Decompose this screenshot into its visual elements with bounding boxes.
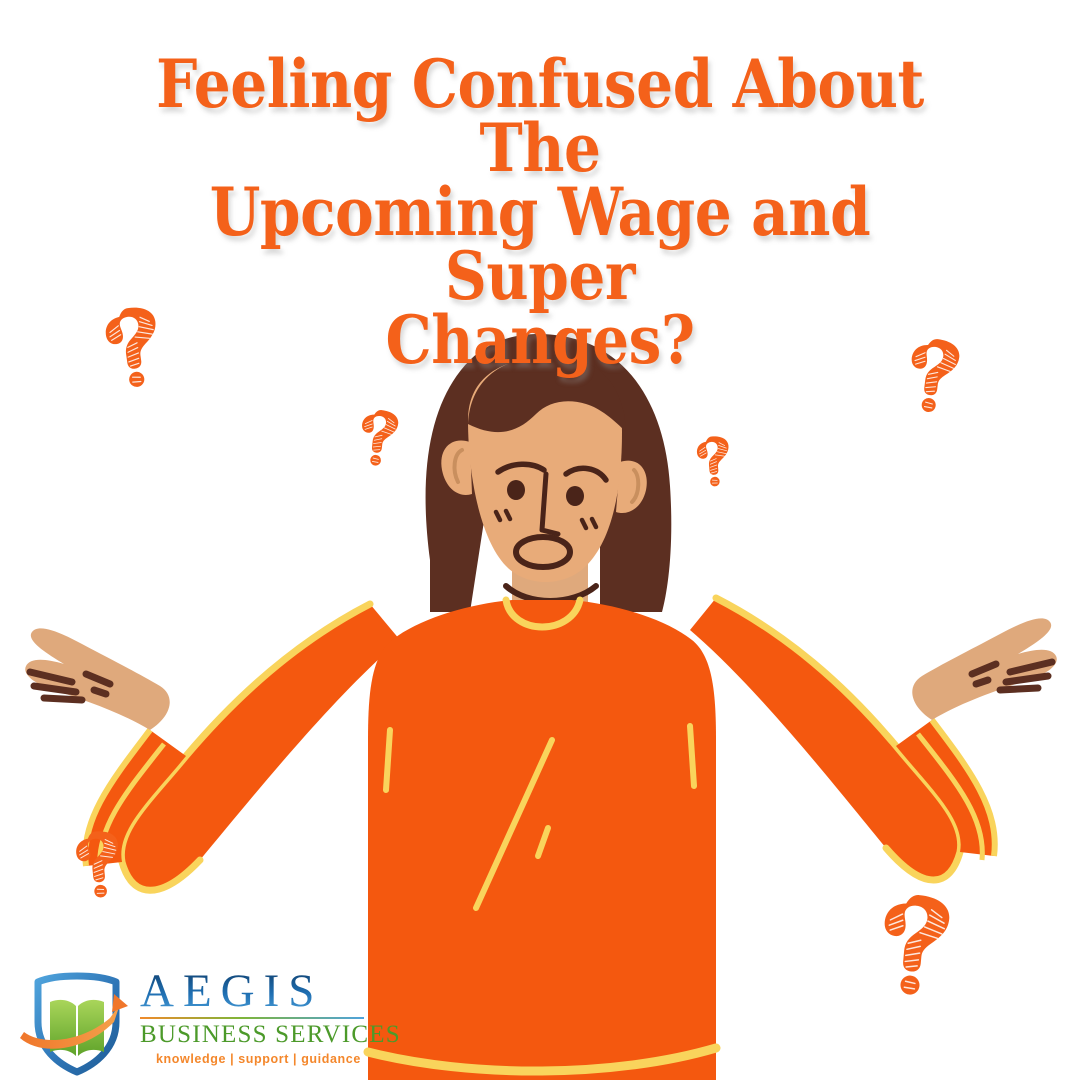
question-mark-icon [358, 408, 399, 467]
logo-tagline: knowledge | support | guidance [156, 1051, 366, 1067]
question-mark-icon [696, 435, 732, 488]
shield-book-logo-icon [18, 960, 136, 1078]
poster-canvas: Feeling Confused About The Upcoming Wage… [0, 0, 1080, 1080]
logo-brand-name: AEGIS [140, 966, 366, 1016]
logo-divider-rule [140, 1017, 364, 1019]
question-mark-icon [879, 892, 951, 997]
logo-wordmark: AEGIS BUSINESS SERVICES knowledge | supp… [140, 966, 366, 1067]
right-arm [690, 598, 1057, 880]
aegis-logo[interactable]: AEGIS BUSINESS SERVICES knowledge | supp… [18, 958, 368, 1080]
sweater-torso [368, 600, 716, 1080]
page-title: Feeling Confused About The Upcoming Wage… [109, 52, 971, 372]
logo-sub-name: BUSINESS SERVICES [140, 1021, 366, 1049]
